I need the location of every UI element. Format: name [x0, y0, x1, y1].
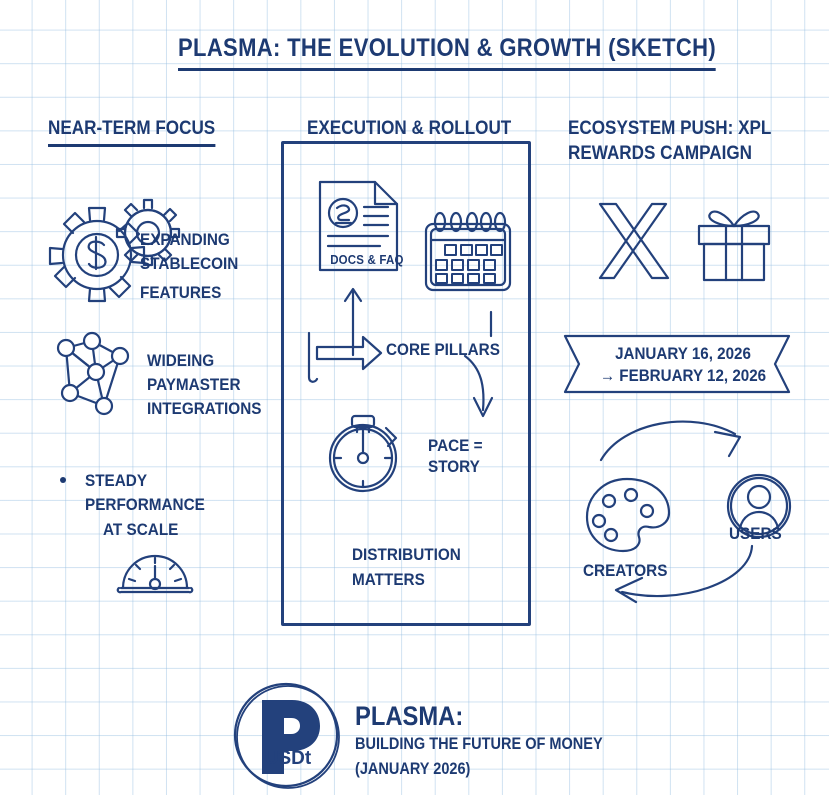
gift-box-icon	[692, 202, 776, 284]
left-item-1-line-0: WIDEING	[147, 350, 214, 371]
gauge-icon	[117, 540, 193, 594]
stopwatch-icon	[318, 406, 410, 498]
distribution-line-1: MATTERS	[352, 569, 425, 590]
left-item-2-line-1: PERFORMANCE	[85, 494, 205, 515]
hook-right-arrow-icon	[305, 325, 385, 387]
banner-line-0: JANUARY 16, 2026	[591, 343, 775, 365]
section-heading-ecosystem-push-line-0: ECOSYSTEM PUSH: XPL	[568, 117, 771, 140]
brand-tagline: BUILDING THE FUTURE OF MONEY	[355, 735, 603, 754]
left-item-0-line-0: EXPANDING	[140, 229, 230, 250]
pace-story-line-0: PACE =	[428, 435, 483, 456]
left-item-2-line-2: AT SCALE	[103, 519, 178, 540]
creators-label: CREATORS	[583, 560, 667, 581]
brand-name: PLASMA:	[355, 701, 463, 732]
plasma-logo-icon: USDt	[228, 678, 346, 794]
bullet-point-icon	[60, 477, 66, 483]
left-item-0-line-2: FEATURES	[140, 282, 221, 303]
calendar-icon	[420, 210, 516, 295]
curved-down-arrow-icon	[455, 352, 515, 422]
page-title: PLASMA: THE EVOLUTION & GROWTH (SKETCH)	[178, 34, 716, 71]
section-heading-ecosystem-push-line-1: REWARDS CAMPAIGN	[568, 142, 752, 165]
banner-line-1: → FEBRUARY 12, 2026	[586, 365, 779, 387]
users-label: USERS	[729, 523, 782, 544]
x-logo-icon	[596, 200, 672, 282]
distribution-line-0: DISTRIBUTION	[352, 544, 461, 565]
cycle-arrow-top-icon	[595, 412, 755, 472]
logo-sublabel: USDt	[265, 748, 312, 769]
section-heading-near-term-focus: NEAR-TERM FOCUS	[48, 117, 215, 147]
palette-icon	[583, 475, 675, 555]
infographic-canvas: PLASMA: THE EVOLUTION & GROWTH (SKETCH) …	[0, 0, 829, 795]
pace-story-line-1: STORY	[428, 456, 480, 477]
calendar-connector-tick	[487, 310, 495, 338]
left-item-0-line-1: STABLECOIN	[140, 253, 238, 274]
left-item-1-line-1: PAYMASTER	[147, 374, 241, 395]
left-item-2-line-0: STEADY	[85, 470, 147, 491]
brand-date: (JANUARY 2026)	[355, 760, 470, 779]
left-item-1-line-2: INTEGRATIONS	[147, 398, 261, 419]
doc-faq-label: DOCS & FAQ	[330, 253, 403, 267]
network-nodes-icon	[52, 330, 140, 418]
section-heading-execution-rollout: EXECUTION & ROLLOUT	[307, 117, 511, 140]
